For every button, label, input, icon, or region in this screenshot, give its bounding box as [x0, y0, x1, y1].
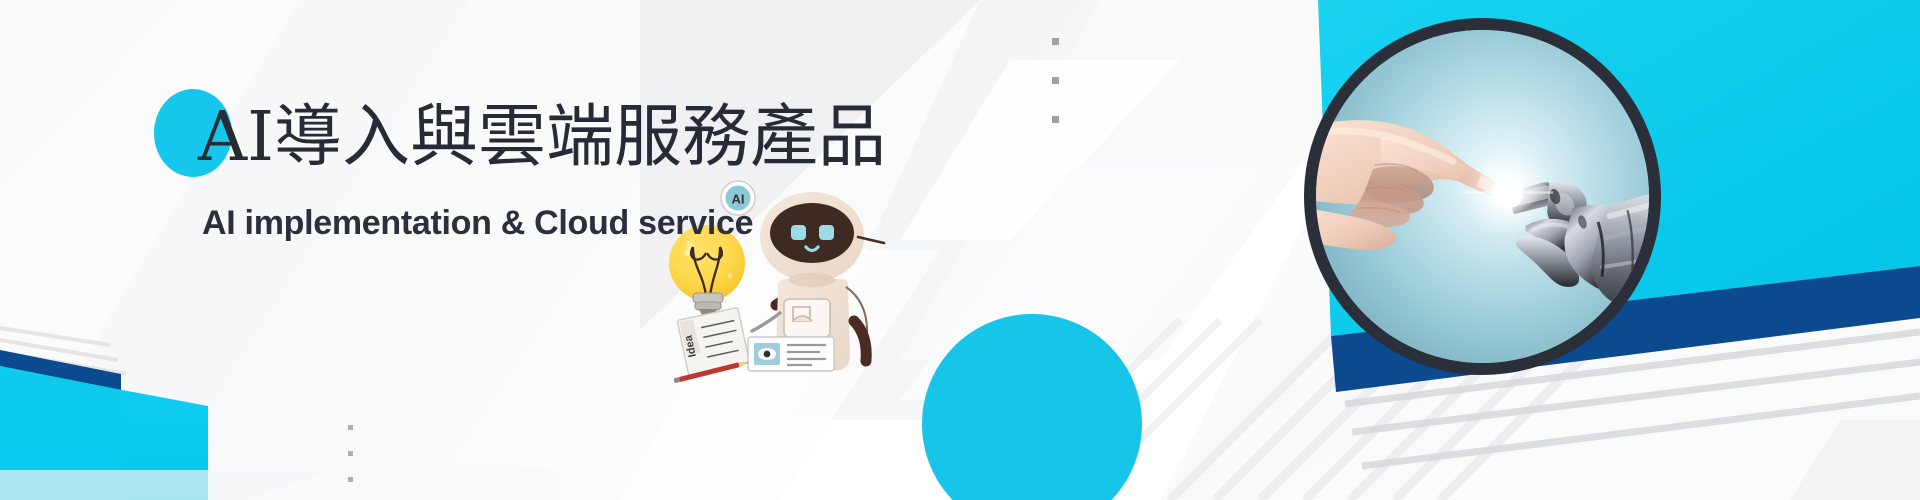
diagonal-stripe-pattern-2	[1000, 320, 1260, 500]
dot-cluster-top	[1052, 38, 1059, 155]
dot	[348, 477, 353, 482]
title-row: AI導入與雲端服務產品	[160, 95, 920, 187]
dot	[1052, 38, 1059, 45]
page-title: AI導入與雲端服務產品	[160, 95, 920, 181]
dot	[348, 451, 353, 456]
navy-stripe-left	[0, 350, 121, 392]
id-card	[748, 337, 834, 371]
hero-photo-circle	[1304, 18, 1661, 375]
cyan-angled-block-left	[0, 328, 208, 500]
dot	[1052, 116, 1059, 123]
robot-arm-right	[854, 321, 866, 361]
hero-photo-content	[1316, 30, 1649, 363]
dot-cluster-bottom	[348, 425, 353, 500]
dot	[348, 425, 353, 430]
cyan-decor-circle	[922, 314, 1142, 500]
banner-copy: AI導入與雲端服務產品 AI implementation & Cloud se…	[160, 95, 920, 243]
dot	[1052, 77, 1059, 84]
ai-service-banner: AI導入與雲端服務產品 AI implementation & Cloud se…	[0, 0, 1920, 500]
page-subtitle: AI implementation & Cloud service	[202, 203, 920, 243]
